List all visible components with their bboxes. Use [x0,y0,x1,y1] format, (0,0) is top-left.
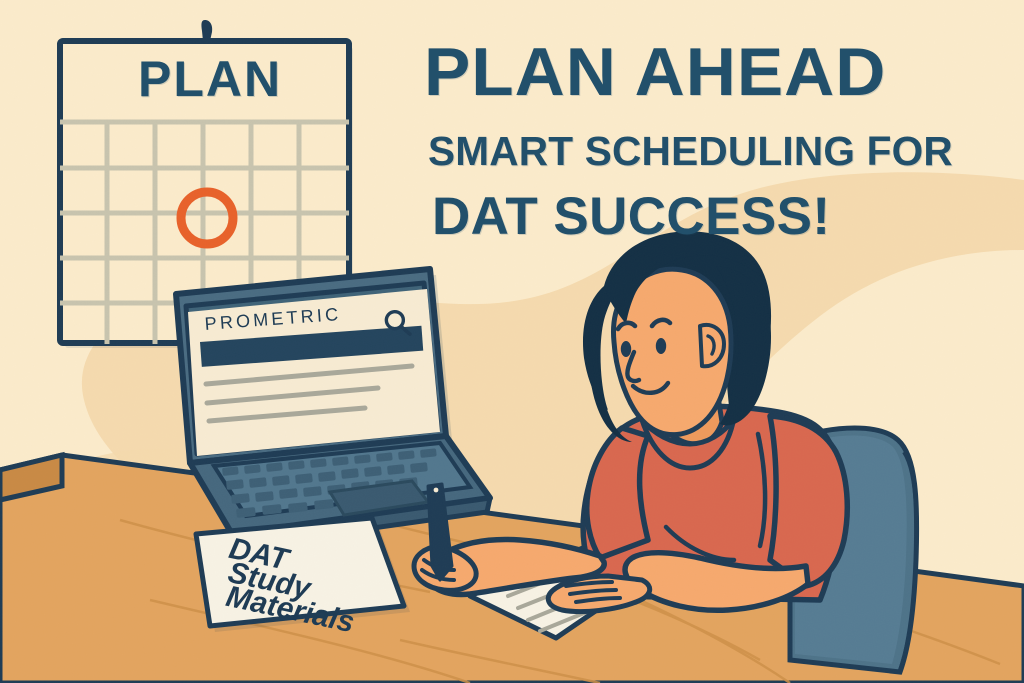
headline-line-3: DAT SUCCESS! [432,190,830,243]
calendar-title-plan: PLAN [138,50,282,108]
illustration-canvas: PLAN AHEAD SMART SCHEDULING FOR DAT SUCC… [0,0,1024,683]
headline-line-1: PLAN AHEAD [424,38,886,106]
headline-line-2: SMART SCHEDULING FOR [428,131,953,172]
